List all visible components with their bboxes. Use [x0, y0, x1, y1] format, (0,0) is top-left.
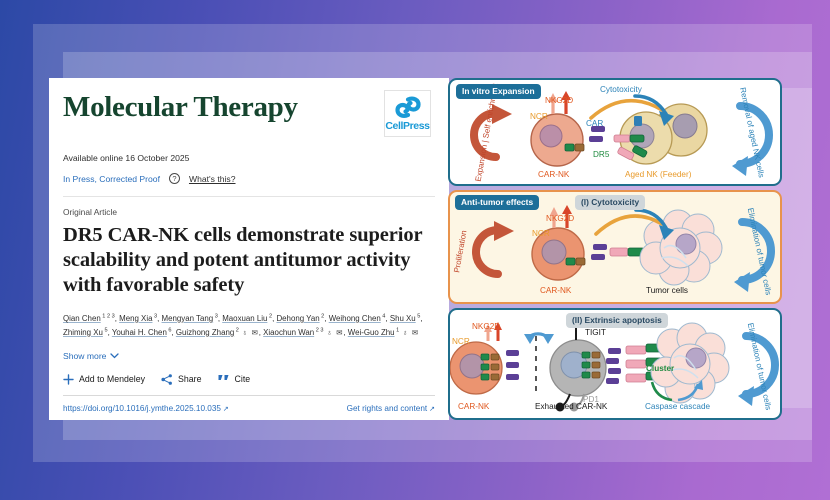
article-card: Molecular Therapy CellPress Available on… [49, 78, 449, 420]
label-ncr: NCR [452, 337, 470, 346]
show-more-button[interactable]: Show more [63, 351, 435, 361]
cellpress-wordmark: CellPress [385, 120, 429, 132]
divider-top [63, 196, 435, 197]
author-affiliation-marker: 2 3 [314, 327, 323, 333]
author-affiliation-marker: 6 [167, 327, 172, 333]
author-name[interactable]: Zhiming Xu [63, 328, 103, 337]
divider-actions [63, 395, 435, 396]
doi-text: https://doi.org/10.1016/j.ymthe.2025.10.… [63, 404, 221, 413]
status-row: In Press, Corrected Proof ? What's this? [63, 173, 435, 184]
label-car-nk: CAR-NK [540, 286, 571, 295]
status-badge: In Press, Corrected Proof [63, 174, 160, 184]
cellpress-logo: CellPress [384, 90, 431, 137]
badge-extrinsic-apoptosis: (II) Extrinsic apoptosis [566, 313, 668, 328]
label-ncr: NCR [530, 112, 548, 121]
panel-anti-tumor-effects: Anti-tumor effects (I) Cytotoxicity NKG2… [448, 190, 782, 304]
author-affiliation-marker: 4 [381, 313, 386, 319]
author-affiliation-marker: 3 [213, 313, 218, 319]
label-car: CAR [586, 119, 603, 128]
plus-icon [63, 374, 74, 385]
label-cytotoxicity: Cytotoxicity [600, 85, 642, 94]
label-cluster: Cluster [646, 364, 674, 373]
author-list: Qian Chen 1 2 3, Meng Xia 3, Mengyan Tan… [63, 312, 435, 340]
label-aged-nk-feeder: Aged NK (Feeder) [625, 170, 691, 179]
share-label: Share [178, 374, 201, 384]
cite-button[interactable]: Cite [218, 374, 251, 384]
author-email-icon[interactable]: ✉ [249, 328, 259, 337]
label-nkg2d: NKG2D [546, 214, 574, 223]
author-name[interactable]: Wei-Guo Zhu [348, 328, 395, 337]
badge-cytotoxicity-i: (I) Cytotoxicity [575, 195, 645, 210]
author-affiliation-marker: 2 [267, 313, 272, 319]
label-nkg2d: NKG2D [545, 96, 573, 105]
label-nkg2d: NKG2D [472, 322, 500, 331]
doi-link[interactable]: https://doi.org/10.1016/j.ymthe.2025.10.… [63, 404, 229, 413]
share-icon [161, 374, 173, 385]
author-name[interactable]: Dehong Yan [276, 314, 319, 323]
author-name[interactable]: Guizhong Zhang [176, 328, 234, 337]
journal-title: Molecular Therapy [63, 90, 298, 122]
label-ncr: NCR [532, 229, 550, 238]
author-affiliation-marker: 1 2 3 [101, 313, 115, 319]
badge-anti-tumor-effects: Anti-tumor effects [455, 195, 539, 210]
author-affiliation-marker: 5 [416, 313, 421, 319]
label-car-nk: CAR-NK [458, 402, 489, 411]
whats-this-link[interactable]: What's this? [189, 174, 236, 184]
doi-row: https://doi.org/10.1016/j.ymthe.2025.10.… [63, 404, 435, 413]
author-email-icon[interactable]: ✉ [409, 328, 419, 337]
author-email-icon[interactable]: ✉ [333, 328, 343, 337]
badge-in-vitro-expansion: In vitro Expansion [456, 84, 541, 99]
author-name[interactable]: Xiaochun Wan [263, 328, 314, 337]
author-name[interactable]: Mengyan Tang [162, 314, 214, 323]
external-link-icon: ↗ [427, 406, 435, 413]
external-link-icon: ↗ [221, 406, 229, 413]
add-to-mendeley-label: Add to Mendeley [79, 374, 145, 384]
graphical-abstract: In vitro Expansion Cytotoxicity NKG2D NC… [448, 78, 782, 420]
author-name[interactable]: Youhai H. Chen [112, 328, 167, 337]
quote-icon [218, 374, 230, 384]
get-rights-label: Get rights and content [347, 404, 428, 413]
panel-in-vitro-expansion: In vitro Expansion Cytotoxicity NKG2D NC… [448, 78, 782, 186]
label-caspase-cascade: Caspase cascade [645, 402, 710, 411]
label-tigit: TIGIT [585, 328, 606, 337]
chevron-down-icon [110, 353, 119, 359]
author-affiliation-marker: 5 [103, 327, 108, 333]
author-name[interactable]: Weihong Chen [329, 314, 381, 323]
label-car-nk: CAR-NK [538, 170, 569, 179]
label-exhausted-car-nk: Exhausted CAR-NK [535, 402, 607, 411]
label-dr5: DR5 [593, 150, 609, 159]
cite-label: Cite [235, 374, 251, 384]
show-more-label: Show more [63, 351, 106, 361]
author-person-icon[interactable]: ♁ [239, 328, 249, 337]
author-name[interactable]: Maoxuan Liu [222, 314, 267, 323]
cellpress-mark-icon [395, 96, 421, 119]
journal-header: Molecular Therapy CellPress [63, 90, 435, 137]
panel-extrinsic-apoptosis: (II) Extrinsic apoptosis NKG2D NCR TIGIT… [448, 308, 782, 420]
article-actions: Add to Mendeley Share Cite [63, 374, 435, 385]
availability-text: Available online 16 October 2025 [63, 153, 435, 163]
page-title: DR5 CAR-NK cells demonstrate superior sc… [63, 223, 435, 298]
author-affiliation-marker: 3 [152, 313, 157, 319]
get-rights-link[interactable]: Get rights and content ↗ [347, 404, 435, 413]
share-button[interactable]: Share [161, 374, 201, 385]
author-name[interactable]: Meng Xia [119, 314, 152, 323]
author-affiliation-marker: 2 [320, 313, 325, 319]
label-tumor-cells: Tumor cells [646, 286, 688, 295]
question-icon[interactable]: ? [169, 173, 180, 184]
author-name[interactable]: Shu Xu [390, 314, 416, 323]
add-to-mendeley-button[interactable]: Add to Mendeley [63, 374, 145, 385]
author-name[interactable]: Qian Chen [63, 314, 101, 323]
author-person-icon[interactable]: ♁ [324, 328, 334, 337]
article-type-kicker: Original Article [63, 207, 435, 217]
author-person-icon[interactable]: ♁ [399, 328, 409, 337]
